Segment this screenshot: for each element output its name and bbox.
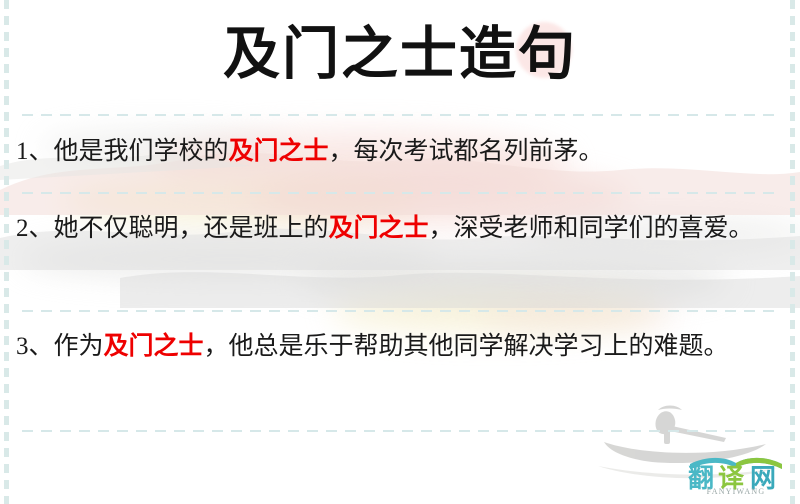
separator-line: [22, 430, 780, 432]
keyword-highlight: 及门之士: [229, 138, 329, 165]
sentence-text-part: ，每次考试都名列前茅。: [329, 138, 604, 165]
keyword-highlight: 及门之士: [329, 215, 429, 242]
page-title: 及门之士造句: [0, 18, 800, 92]
separator-line: [22, 192, 780, 194]
separator-line: [22, 114, 780, 116]
sentence-text-part: 她不仅聪明，还是班上的: [54, 215, 329, 242]
sentence-item: 1、他是我们学校的及门之士，每次考试都名列前茅。: [16, 130, 782, 174]
sentence-index: 3、: [16, 333, 54, 360]
sentence-text-part: ，深受老师和同学们的喜爱。: [429, 215, 754, 242]
sentence-item: 2、她不仅聪明，还是班上的及门之士，深受老师和同学们的喜爱。: [16, 207, 782, 251]
sentence-text-part: 他是我们学校的: [54, 138, 229, 165]
sentence-text-part: ，他总是乐于帮助其他同学解决学习上的难题。: [204, 333, 729, 360]
logo-caption: FANYIWANG: [684, 487, 788, 496]
sentence-index: 1、: [16, 138, 54, 165]
keyword-highlight: 及门之士: [104, 333, 204, 360]
ink-wash-shape: [300, 255, 730, 305]
sentence-example-page: 及门之士造句 1、他是我们学校的及门之士，每次考试都名列前茅。 2、她不仅聪明，…: [0, 0, 800, 504]
separator-line: [22, 310, 780, 312]
sentence-index: 2、: [16, 215, 54, 242]
sentence-item: 3、作为及门之士，他总是乐于帮助其他同学解决学习上的难题。: [16, 325, 782, 369]
sentence-text-part: 作为: [54, 333, 104, 360]
